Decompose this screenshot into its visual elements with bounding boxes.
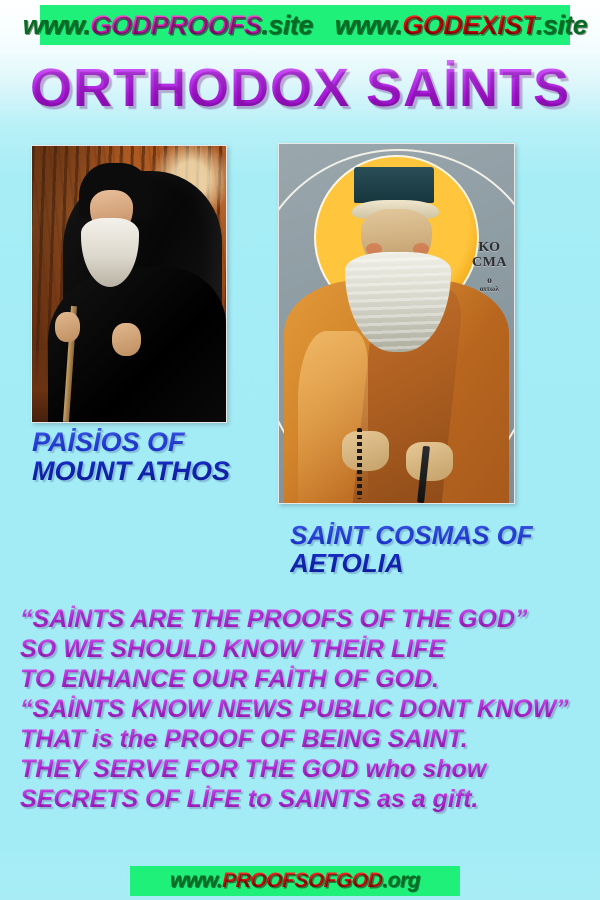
inscription-line-1: ΚΟ [472,241,507,256]
monk-right-hand [112,323,141,356]
url-prefix: www. [170,869,222,892]
url-brand: GODEXIST [402,10,536,40]
top-url-banner: www.GODPROOFS.site www.GODEXIST.site [40,5,570,45]
inscription-line-4: αιτωλ [472,286,507,293]
poster-canvas: www.GODPROOFS.site www.GODEXIST.site ORT… [0,0,600,900]
paisios-photo [31,145,227,423]
url-prefix: www. [23,10,91,40]
cosmas-icon-content: ΚΟ CΜΑ ο αιτωλ [279,144,514,503]
body-line: THAT is the PROOF OF BEING SAINT. [20,724,590,754]
saint-left-hand [342,431,389,470]
url-godexist[interactable]: www.GODEXIST.site [335,10,588,41]
saint-kalimavkion [354,167,434,203]
monk-left-hand [55,312,80,342]
inscription-line-2: CΜΑ [472,256,507,271]
prayer-rope [357,428,362,500]
url-godproofs[interactable]: www.GODPROOFS.site [23,10,313,41]
body-text-block: “SAİNTS ARE THE PROOFS OF THE GOD” SO WE… [20,604,590,814]
cosmas-icon-image: ΚΟ CΜΑ ο αιτωλ [278,143,515,504]
body-line: “SAİNTS ARE THE PROOFS OF THE GOD” [20,604,590,634]
paisios-photo-content [32,146,226,422]
page-title: ORTHODOX SAİNTS [0,57,600,119]
url-brand: GODPROOFS [90,10,261,40]
body-line: SECRETS OF LİFE to SAINTS as a gift. [20,784,590,814]
body-line: THEY SERVE FOR THE GOD who show [20,754,590,784]
greek-inscription: ΚΟ CΜΑ ο αιτωλ [472,241,507,293]
body-line: SO WE SHOULD KNOW THEİR LIFE [20,634,590,664]
url-proofsofgod[interactable]: www.PROOFSOFGOD.org [170,869,420,893]
url-brand: PROOFSOFGOD [222,869,382,892]
url-suffix: .site [536,10,588,40]
body-line: TO ENHANCE OUR FAİTH OF GOD. [20,664,590,694]
paisios-caption: PAİSİOS OF MOUNT ATHOS [32,428,230,485]
url-suffix: .org [382,869,420,892]
bottom-url-banner: www.PROOFSOFGOD.org [130,866,460,896]
url-prefix: www. [335,10,403,40]
cosmas-caption: SAİNT COSMAS OF AETOLIA [290,522,533,577]
url-suffix: .site [261,10,313,40]
body-line: “SAİNTS KNOW NEWS PUBLIC DONT KNOW” [20,694,590,724]
